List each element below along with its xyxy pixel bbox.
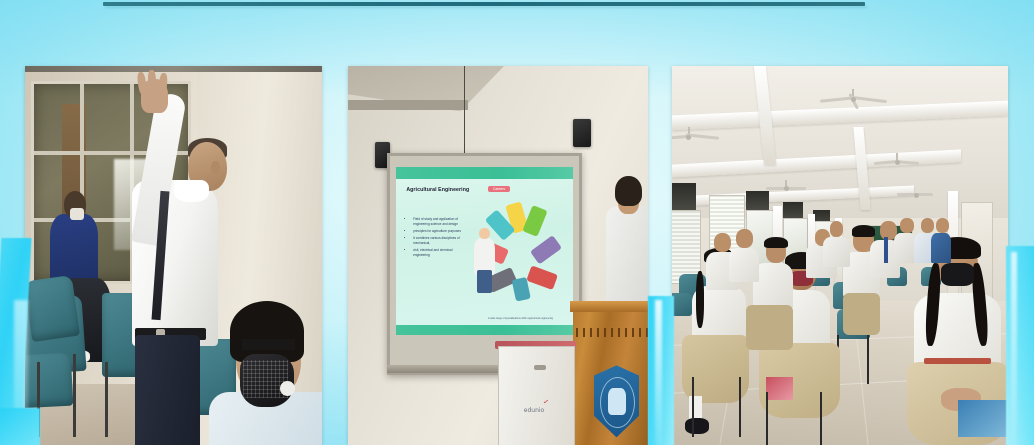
- presenter-head: [615, 176, 642, 206]
- decorative-swoosh-right-highlight: [1011, 252, 1017, 445]
- student-head: [830, 221, 843, 236]
- fan-hub: [895, 160, 900, 165]
- fan-hub: [784, 186, 789, 191]
- decorative-swoosh-center-highlight: [655, 300, 662, 445]
- ceiling-edge: [25, 66, 322, 72]
- photo-lecturer-gesturing[interactable]: Speaker in white shirt and dark trousers…: [25, 66, 322, 445]
- slide-badge: Careers: [488, 186, 510, 192]
- ceiling-edge-strip: [348, 100, 468, 109]
- face-mask-valve: [280, 381, 295, 396]
- slide-canvas: Speaker in white shirt and dark trousers…: [0, 0, 1034, 445]
- photo-projector-presentation[interactable]: Agricultural Engineering Careers Field o…: [348, 66, 648, 445]
- wall-speaker-right: [573, 119, 591, 147]
- ceiling-fan: [820, 89, 887, 119]
- fan-hub: [686, 135, 691, 140]
- student-head: [921, 218, 934, 233]
- slide-bullet-list: Field of study and application of engine…: [408, 217, 467, 260]
- top-rule-shadow: [105, 6, 867, 8]
- slide-bullet: It combines various disciplines of mecha…: [413, 236, 467, 246]
- student-belt: [924, 358, 991, 364]
- student-shoe: [685, 418, 709, 433]
- student-head: [900, 218, 913, 233]
- emblem-hand-icon: [608, 388, 626, 415]
- eyeglasses-icon: [242, 339, 295, 350]
- photo-classroom-students[interactable]: Students in white shirts and khaki unifo…: [672, 66, 1008, 445]
- wheel-segment: [531, 235, 563, 265]
- slide-illustration-head: [479, 228, 490, 240]
- fan-rod: [785, 180, 787, 186]
- chair-leg: [105, 362, 108, 438]
- decorative-swoosh-right: [1006, 246, 1034, 445]
- student-shirt: [823, 237, 850, 267]
- student-head: [714, 233, 731, 252]
- decorative-swoosh-center: [648, 296, 674, 445]
- background-student-face-mask: [70, 208, 85, 220]
- foreground-student-hair: [230, 301, 304, 362]
- slide-illustration-legs: [477, 270, 491, 294]
- window: [672, 210, 701, 284]
- fan-hub: [851, 97, 856, 102]
- wheel-segment: [522, 205, 548, 237]
- student-hair: [852, 225, 876, 236]
- ceiling-fan: [897, 187, 934, 202]
- projected-slide: Agricultural Engineering Careers Field o…: [396, 167, 574, 335]
- ceiling-fan: [766, 180, 806, 199]
- slide-bottom-band: [396, 325, 574, 335]
- cabinet-brand-logo: edunio: [510, 407, 558, 414]
- projector-cable: [464, 66, 465, 165]
- top-divider-rule: [103, 2, 865, 6]
- slide-bullet: principles for agriculture purposes: [413, 229, 467, 234]
- chair-leg: [867, 335, 869, 384]
- chair-leg: [820, 392, 822, 445]
- student-trousers: [843, 293, 880, 335]
- fan-hub: [914, 193, 919, 198]
- fan-blade: [686, 134, 719, 140]
- wheel-segment: [526, 265, 558, 290]
- cabinet-handle: [534, 365, 546, 370]
- chair-leg: [37, 362, 40, 438]
- slide-bullet: civil, electrical and chemical engineeri…: [413, 248, 467, 258]
- empty-chair: [672, 293, 692, 316]
- chair-leg: [739, 377, 741, 438]
- speaker-finger: [148, 70, 157, 93]
- student-shirt: [729, 248, 759, 282]
- chair-back: [25, 275, 79, 342]
- speaker-trousers: [135, 335, 200, 445]
- chair-seat: [25, 353, 74, 409]
- student-head: [736, 229, 753, 248]
- speaker-shirt-collar: [174, 180, 210, 203]
- podium-decorative-band: [576, 328, 648, 337]
- student-trousers: [746, 305, 793, 350]
- window-blind: [746, 191, 770, 210]
- white-cabinet: [498, 346, 575, 445]
- ceiling-fan: [672, 127, 719, 154]
- student-head: [936, 218, 949, 233]
- speaker-ear: [211, 161, 220, 175]
- slide-title: Agricultural Engineering: [406, 187, 469, 193]
- podium-top-edge: [570, 301, 648, 312]
- chair-leg: [73, 354, 76, 437]
- student-braid: [696, 271, 704, 328]
- student-notebook: [958, 400, 1008, 438]
- career-wheel-diagram: [484, 201, 566, 312]
- student-necktie: [884, 237, 889, 264]
- slide-top-band: [396, 167, 574, 179]
- check-mark-icon: ✓: [542, 397, 549, 406]
- window-blind: [672, 183, 696, 210]
- presenter-body: [606, 206, 648, 308]
- student-hair: [764, 237, 788, 248]
- fan-rod: [896, 153, 898, 160]
- ceiling-fan: [874, 153, 921, 176]
- slide-caption: A wide range of specialisations within a…: [488, 317, 553, 320]
- student-shirt: [931, 233, 951, 263]
- student-bag: [766, 377, 793, 400]
- chair-leg: [692, 377, 694, 438]
- slide-bullet: Field of study and application of engine…: [413, 217, 467, 227]
- chair-leg: [766, 392, 768, 445]
- student-face-mask: [941, 263, 975, 286]
